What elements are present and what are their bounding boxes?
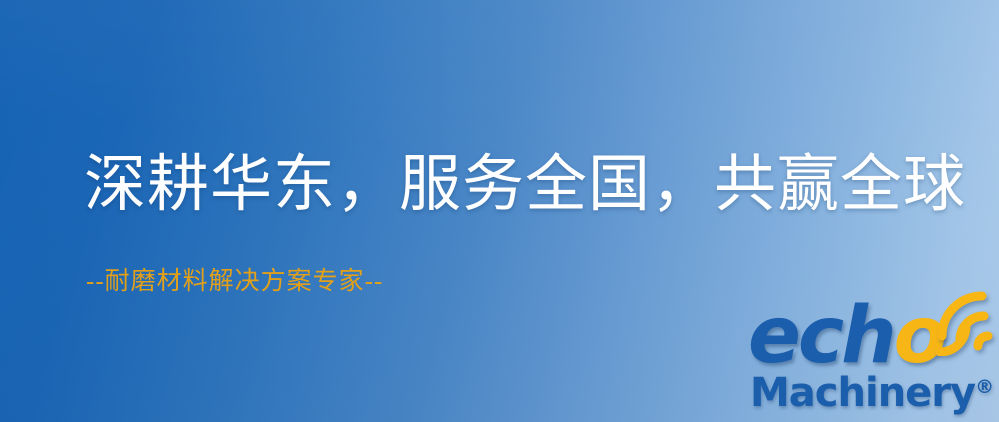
signal-waves-icon: [934, 290, 999, 356]
banner-subtitle: --耐磨材料解决方案专家--: [86, 266, 383, 298]
logo-wordmark-primary: ech: [748, 291, 894, 381]
logo-subtext-label: Machinery: [750, 370, 975, 416]
logo-wordmark: echo: [748, 296, 944, 376]
logo-subtext: Machinery®: [750, 370, 994, 416]
echo-machinery-logo: echo Machinery®: [748, 296, 999, 422]
promo-banner: 深耕华东，服务全国，共赢全球 --耐磨材料解决方案专家-- echo Machi…: [0, 0, 999, 422]
banner-headline: 深耕华东，服务全国，共赢全球: [84, 148, 966, 222]
registered-trademark-icon: ®: [975, 376, 994, 398]
